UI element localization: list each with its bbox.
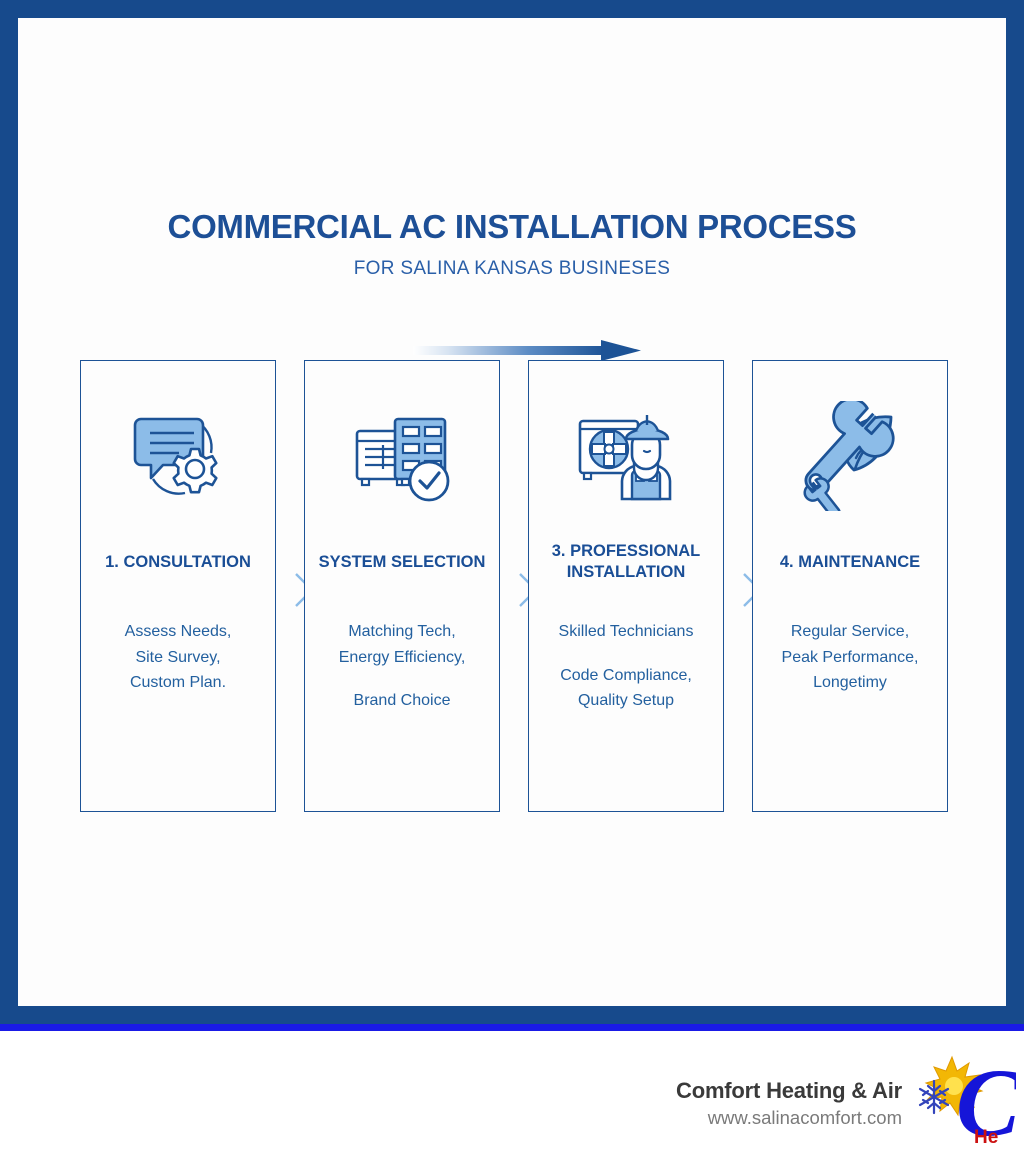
step-body: Matching Tech, Energy Efficiency, Brand … — [305, 593, 499, 714]
comfort-c-logo: C He — [912, 1055, 1016, 1151]
footer: Comfort Heating & Air www.salinacomfort.… — [0, 1031, 1024, 1154]
brand-name: Comfort Heating & Air — [676, 1078, 902, 1104]
infographic-canvas: COMMERCIAL AC INSTALLATION PROCESS FOR S… — [18, 18, 1006, 1006]
step-body-line: Regular Service, Peak Performance, Longe… — [761, 619, 939, 696]
step-title: 4. MAINTENANCE — [753, 531, 947, 593]
footer-brand: Comfort Heating & Air www.salinacomfort.… — [676, 1055, 1016, 1151]
step-title: SYSTEM SELECTION — [305, 531, 499, 593]
step-card-professional-installation[interactable]: 3. PROFESSIONAL INSTALLATION Skilled Tec… — [528, 360, 724, 812]
consultation-chat-gear-icon — [81, 361, 275, 531]
process-steps: 1. CONSULTATION Assess Needs, Site Surve… — [80, 360, 960, 812]
step-title: 3. PROFESSIONAL INSTALLATION — [529, 531, 723, 593]
logo-subtext: He — [974, 1127, 998, 1148]
step-card-system-selection[interactable]: SYSTEM SELECTION Matching Tech, Energy E… — [304, 360, 500, 812]
wrench-leaf-maintenance-icon — [753, 361, 947, 531]
page-subtitle: FOR SALINA KANSAS BUSINESES — [18, 258, 1006, 280]
step-card-maintenance[interactable]: 4. MAINTENANCE Regular Service, Peak Per… — [752, 360, 948, 812]
footer-text: Comfort Heating & Air www.salinacomfort.… — [676, 1078, 902, 1129]
step-body-line: Code Compliance, Quality Setup — [537, 663, 715, 714]
brand-url[interactable]: www.salinacomfort.com — [676, 1107, 902, 1129]
step-body: Skilled Technicians Code Compliance, Qua… — [529, 593, 723, 714]
header: COMMERCIAL AC INSTALLATION PROCESS FOR S… — [18, 208, 1006, 280]
step-body: Regular Service, Peak Performance, Longe… — [753, 593, 947, 696]
page-title: COMMERCIAL AC INSTALLATION PROCESS — [18, 208, 1006, 246]
technician-ac-unit-icon — [529, 361, 723, 531]
infographic-page: COMMERCIAL AC INSTALLATION PROCESS FOR S… — [0, 0, 1024, 1154]
step-card-consultation[interactable]: 1. CONSULTATION Assess Needs, Site Surve… — [80, 360, 276, 812]
step-body: Assess Needs, Site Survey, Custom Plan. — [81, 593, 275, 696]
step-body-line: Skilled Technicians — [537, 619, 715, 645]
step-body-line: Brand Choice — [313, 688, 491, 714]
accent-stripe — [0, 1024, 1024, 1031]
step-body-line: Assess Needs, Site Survey, Custom Plan. — [89, 619, 267, 696]
outer-frame: COMMERCIAL AC INSTALLATION PROCESS FOR S… — [0, 0, 1024, 1024]
step-body-line: Matching Tech, Energy Efficiency, — [313, 619, 491, 670]
system-selection-building-check-icon — [305, 361, 499, 531]
step-title: 1. CONSULTATION — [81, 531, 275, 593]
